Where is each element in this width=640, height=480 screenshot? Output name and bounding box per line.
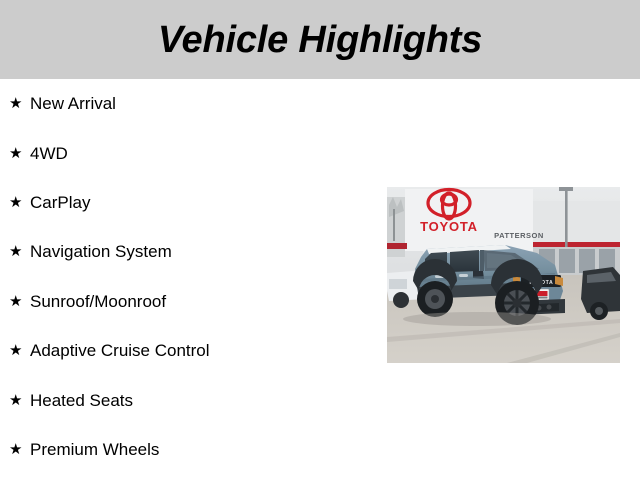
list-item: ★ Navigation System <box>0 227 380 276</box>
highlight-label: Premium Wheels <box>30 441 159 458</box>
star-bullet-icon: ★ <box>9 343 30 358</box>
star-bullet-icon: ★ <box>9 244 30 259</box>
svg-text:TOYOTA: TOYOTA <box>420 219 478 234</box>
page-header: Vehicle Highlights <box>0 0 640 79</box>
list-item: ★ CarPlay <box>0 178 380 227</box>
highlight-label: New Arrival <box>30 95 116 112</box>
list-item: ★ Premium Wheels <box>0 425 380 474</box>
svg-text:PATTERSON: PATTERSON <box>494 231 544 240</box>
star-bullet-icon: ★ <box>9 96 30 111</box>
star-bullet-icon: ★ <box>9 146 30 161</box>
highlight-label: 4WD <box>30 145 68 162</box>
list-item: ★ Heated Seats <box>0 375 380 424</box>
list-item: ★ New Arrival <box>0 79 380 128</box>
star-bullet-icon: ★ <box>9 442 30 457</box>
star-bullet-icon: ★ <box>9 294 30 309</box>
highlight-label: Sunroof/Moonroof <box>30 293 166 310</box>
vehicle-photo-image: TOYOTA PATTERSON <box>387 187 620 363</box>
list-item: ★ Adaptive Cruise Control <box>0 326 380 375</box>
highlight-label: Heated Seats <box>30 392 133 409</box>
highlight-label: CarPlay <box>30 194 90 211</box>
list-item: ★ 4WD <box>0 128 380 177</box>
highlight-label: Adaptive Cruise Control <box>30 342 210 359</box>
highlight-label: Navigation System <box>30 243 172 260</box>
vehicle-photo: TOYOTA PATTERSON <box>387 187 620 363</box>
star-bullet-icon: ★ <box>9 195 30 210</box>
star-bullet-icon: ★ <box>9 393 30 408</box>
vehicle-highlights-list: ★ New Arrival ★ 4WD ★ CarPlay ★ Navigati… <box>0 79 380 474</box>
list-item: ★ Sunroof/Moonroof <box>0 277 380 326</box>
page-title: Vehicle Highlights <box>158 21 482 59</box>
